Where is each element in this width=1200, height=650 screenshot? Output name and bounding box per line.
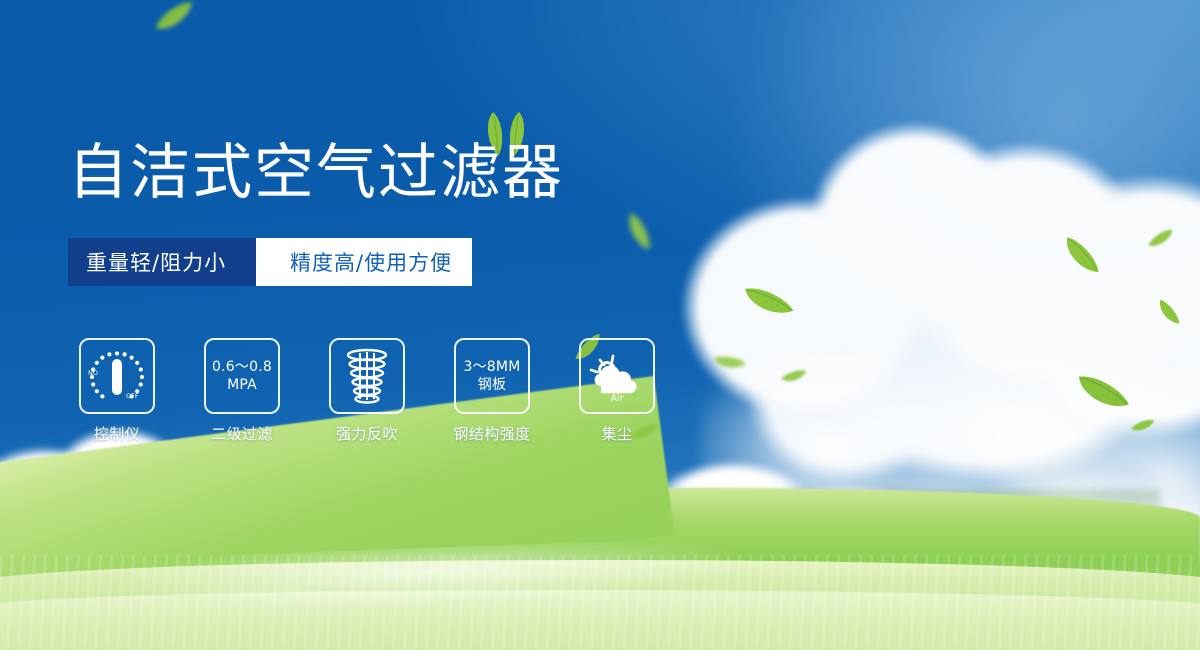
feature-icon-box: 3～8MM 钢板 <box>454 338 530 414</box>
dial-gauge-icon: NO OFF <box>86 348 148 404</box>
pressure-value-icon: 0.6～0.8 MPA <box>212 358 272 395</box>
feature-icon-box <box>329 338 405 414</box>
pressure-unit: MPA <box>212 376 272 394</box>
cloud-sun-air-icon: Air <box>587 348 647 404</box>
feature-label: 控制仪 <box>94 423 141 444</box>
feature-label: 钢结构强度 <box>453 423 531 444</box>
feature-steel-structure-strength[interactable]: 3～8MM 钢板 钢结构强度 <box>454 338 530 444</box>
dial-no-label: NO <box>88 369 98 377</box>
diagonal-slash-divider <box>256 238 282 286</box>
dial-off-label: OFF <box>126 392 139 400</box>
steel-plate-value-icon: 3～8MM 钢板 <box>464 358 521 395</box>
feature-icon-box: Air <box>579 338 655 414</box>
hero-banner: 自洁式空气过滤器 重量轻/阻力小 精度高/使用方便 <box>0 0 1200 650</box>
feature-icon-box: 0.6～0.8 MPA <box>204 338 280 414</box>
air-label: Air <box>610 393 623 404</box>
feature-dust-collection[interactable]: Air 集尘 <box>579 338 655 444</box>
page-title: 自洁式空气过滤器 <box>68 143 564 203</box>
steel-thickness: 3～8MM <box>464 359 521 375</box>
subtitle-bar: 重量轻/阻力小 精度高/使用方便 <box>68 238 472 286</box>
steel-material: 钢板 <box>464 376 521 394</box>
feature-strong-backflush[interactable]: 强力反吹 <box>329 338 405 444</box>
subtitle-right: 精度高/使用方便 <box>282 238 472 286</box>
feature-control-instrument[interactable]: NO OFF 控制仪 <box>79 338 155 444</box>
feature-label: 强力反吹 <box>336 423 398 444</box>
grass-texture-streaks <box>0 555 1200 650</box>
pressure-range: 0.6～0.8 <box>212 359 272 375</box>
coil-filter-icon <box>340 347 394 405</box>
feature-two-stage-filter[interactable]: 0.6～0.8 MPA 二级过滤 <box>204 338 280 444</box>
subtitle-left: 重量轻/阻力小 <box>68 238 256 286</box>
feature-list: NO OFF 控制仪 0.6～0.8 MPA 二级过滤 <box>79 338 655 444</box>
feature-label: 集尘 <box>601 423 632 444</box>
feature-icon-box: NO OFF <box>79 338 155 414</box>
feature-label: 二级过滤 <box>211 423 273 444</box>
